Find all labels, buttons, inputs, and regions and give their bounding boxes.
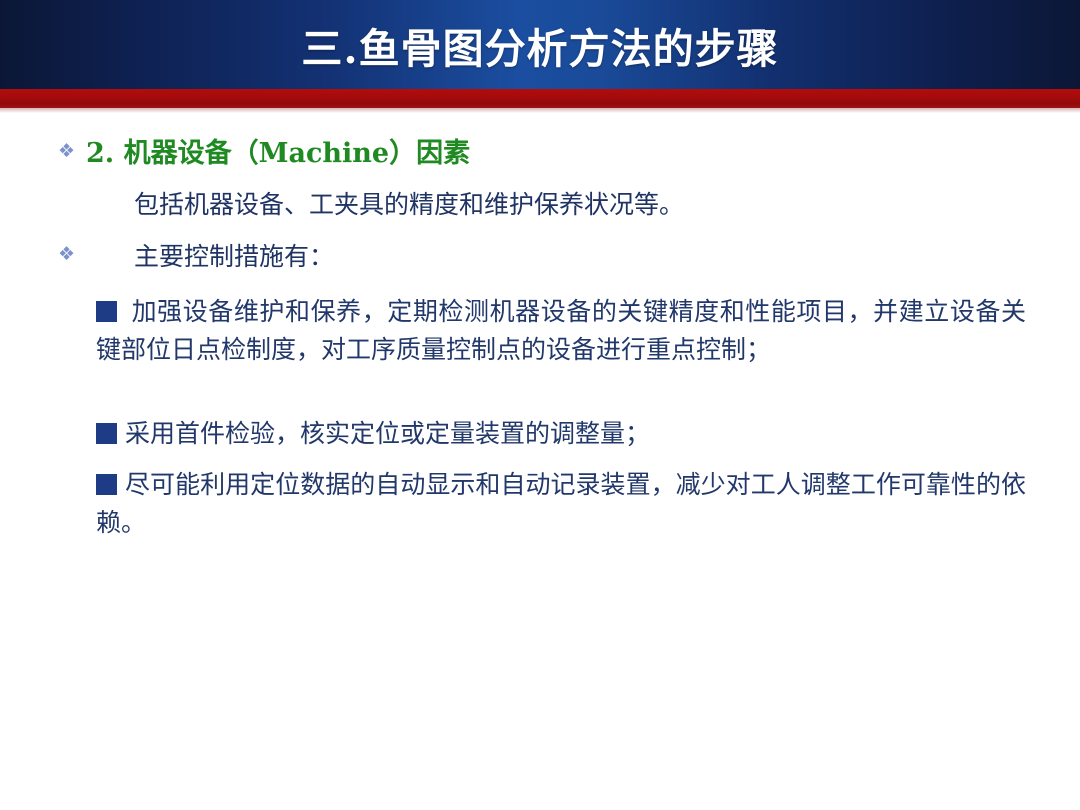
measures-intro: ❖ 主要控制措施有： [58,242,334,272]
measure-item: 尽可能利用定位数据的自动显示和自动记录装置，减少对工人调整工作可靠性的依赖。 [96,466,1026,552]
measure-text: 尽可能利用定位数据的自动显示和自动记录装置，减少对工人调整工作可靠性的依赖。 [96,470,1026,537]
measure-text: 采用首件检验，核实定位或定量装置的调整量； [125,419,650,448]
square-bullet-icon [96,423,117,444]
diamond-bullet-icon: ❖ [58,142,86,161]
measure-paragraph: 采用首件检验，核实定位或定量装置的调整量； [96,415,1026,453]
header-accent-bar [0,89,1080,108]
measure-item: 采用首件检验，核实定位或定量装置的调整量； [96,415,1026,463]
diamond-bullet-icon: ❖ [58,245,134,264]
header-accent-bar-shadow [0,108,1080,113]
measure-text: 加强设备维护和保养，定期检测机器设备的关键精度和性能项目，并建立设备关键部位日点… [96,297,1026,364]
measure-paragraph: 尽可能利用定位数据的自动显示和自动记录装置，减少对工人调整工作可靠性的依赖。 [96,466,1026,542]
slide-content: ❖ 2. 机器设备（Machine）因素 包括机器设备、工夹具的精度和维护保养状… [0,118,1080,810]
slide-title: 三.鱼骨图分析方法的步骤 [0,0,1080,89]
slide-header-band: 三.鱼骨图分析方法的步骤 [0,0,1080,89]
section-heading: ❖ 2. 机器设备（Machine）因素 [58,140,470,167]
measure-item: 加强设备维护和保养，定期检测机器设备的关键精度和性能项目，并建立设备关键部位日点… [96,293,1026,379]
measure-paragraph: 加强设备维护和保养，定期检测机器设备的关键精度和性能项目，并建立设备关键部位日点… [96,293,1026,369]
measures-intro-label: 主要控制措施有： [134,242,334,272]
square-bullet-icon [96,301,117,322]
section-heading-label: 2. 机器设备（Machine）因素 [86,140,470,167]
section-description: 包括机器设备、工夹具的精度和维护保养状况等。 [134,190,684,220]
slide-root: 三.鱼骨图分析方法的步骤 ❖ 2. 机器设备（Machine）因素 包括机器设备… [0,0,1080,810]
square-bullet-icon [96,474,117,495]
